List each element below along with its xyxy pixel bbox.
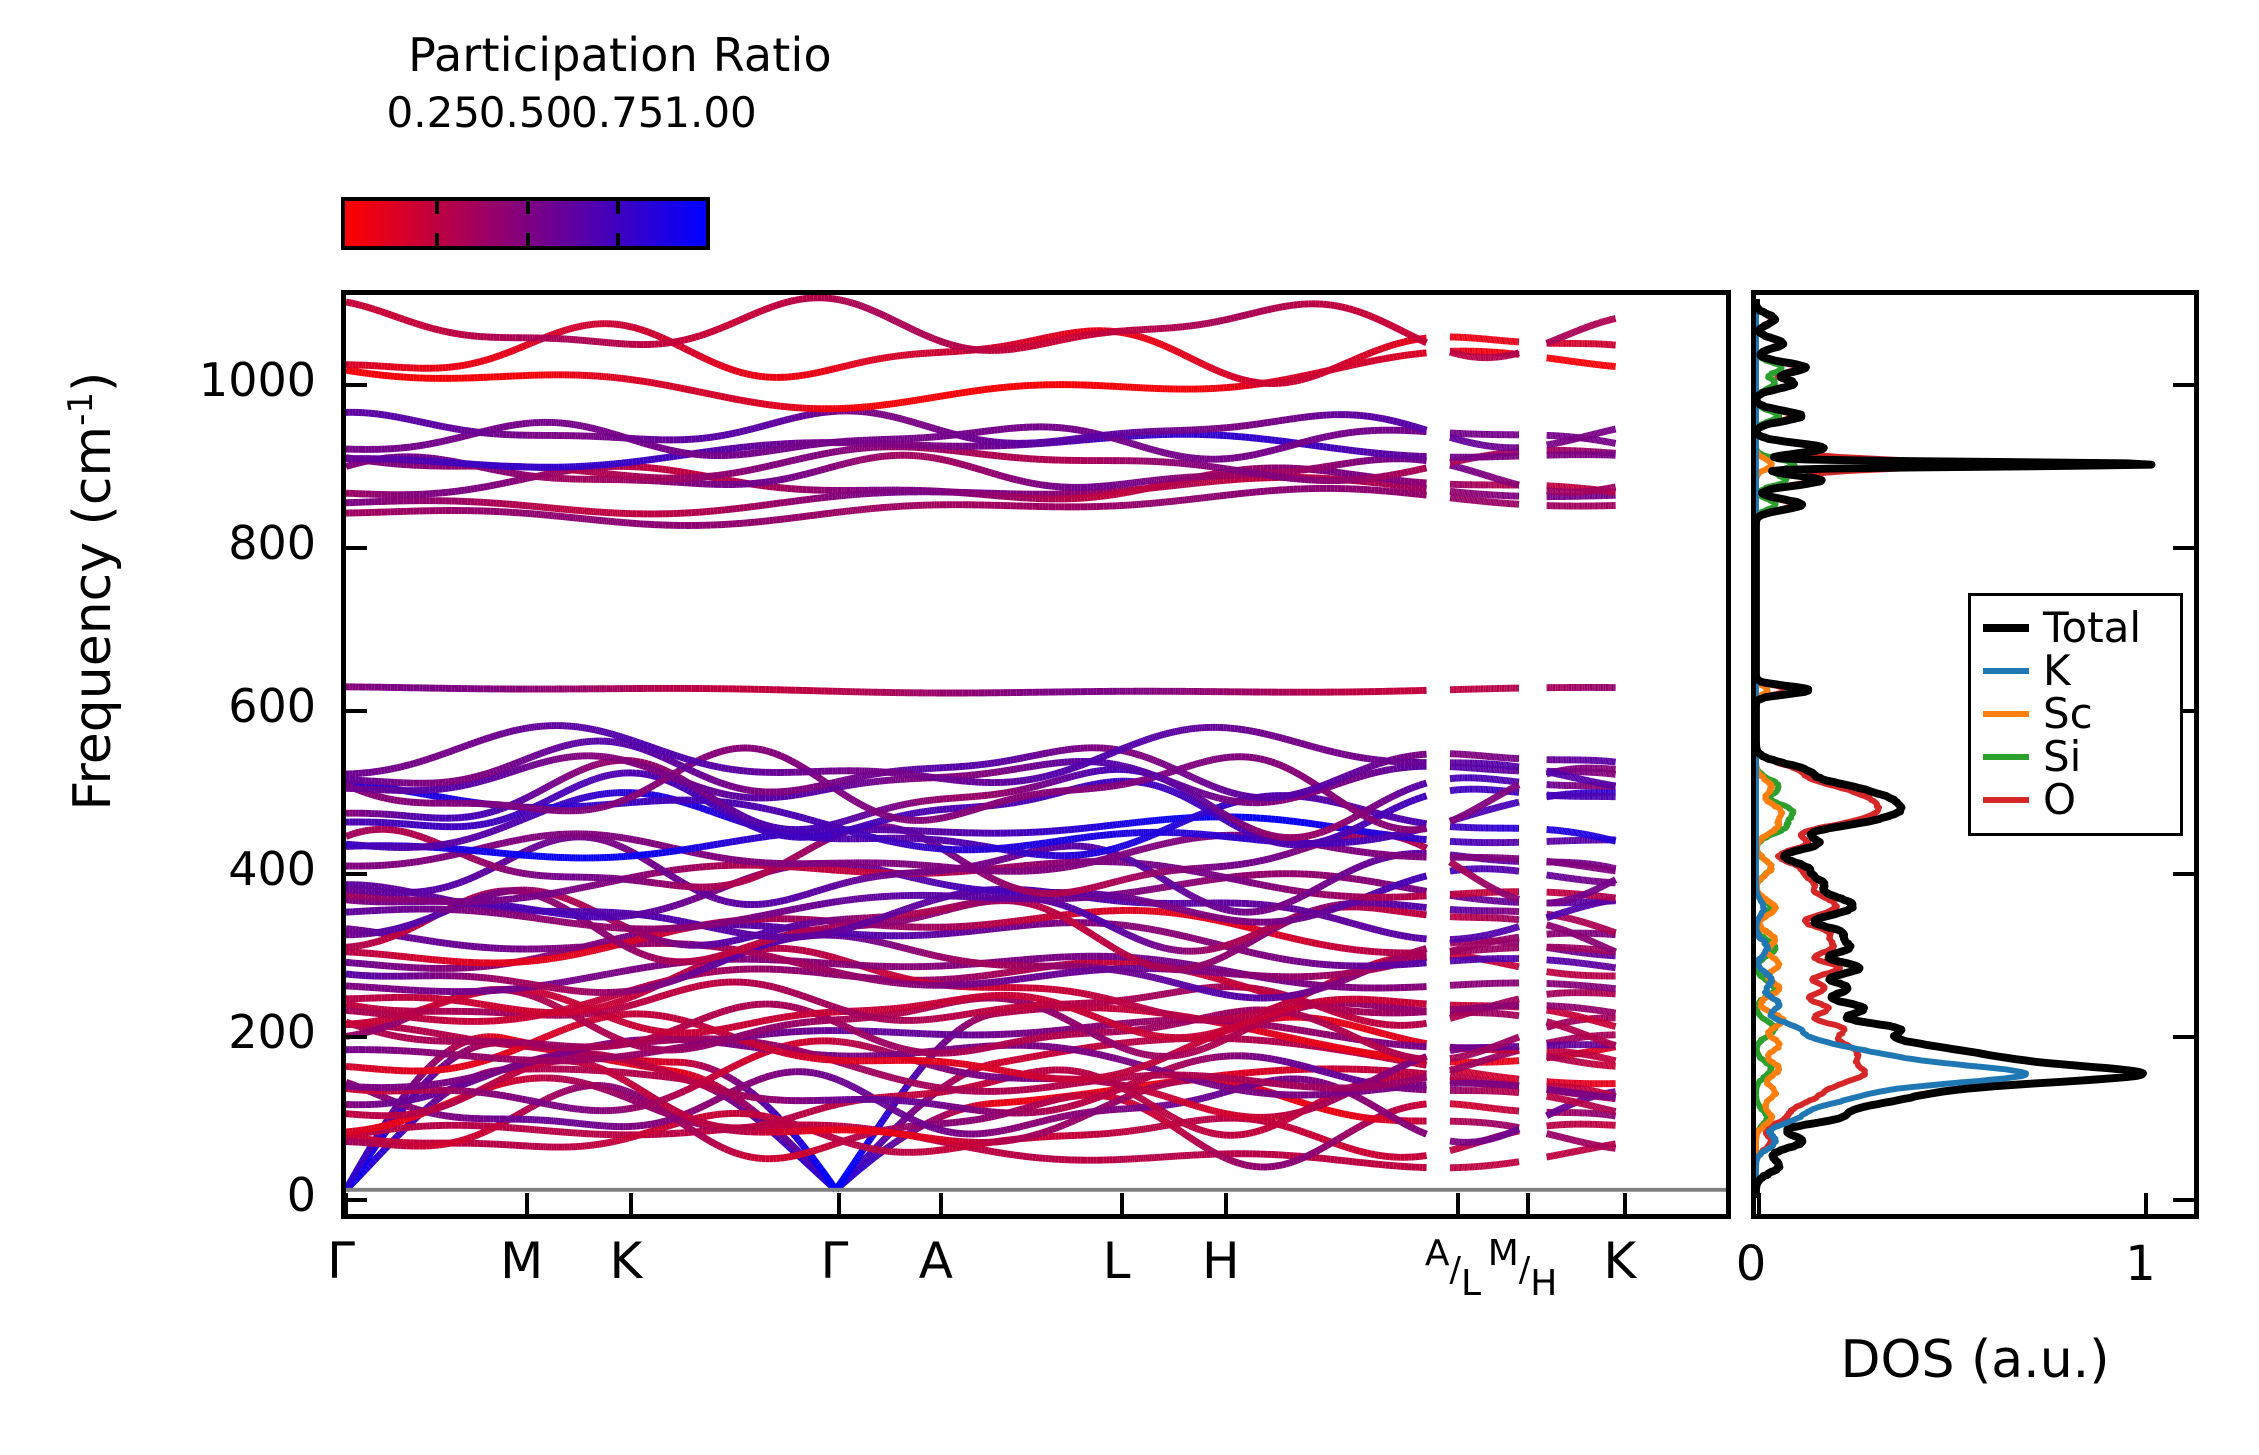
- legend-label-o: O: [2043, 779, 2076, 821]
- band-y-tick-mark: [345, 709, 367, 713]
- legend-item-si: Si: [1983, 735, 2166, 778]
- band-x-tick-L: L: [1103, 1236, 1131, 1286]
- legend-item-total: Total: [1983, 606, 2166, 649]
- band-x-tick-mark: [1224, 1193, 1228, 1215]
- dos-x-tick-labels: 01: [1751, 1236, 2199, 1306]
- dos-x-tick-0: 0: [1736, 1236, 1767, 1292]
- band-x-tick-H: H: [1202, 1236, 1240, 1286]
- band-x-tick-mark: [629, 1193, 633, 1215]
- legend-label-sc: Sc: [2043, 693, 2093, 735]
- figure-canvas: Participation Ratio 0.250.500.751.00 020…: [0, 0, 2259, 1455]
- band-y-tick-labels: 02004006008001000: [0, 290, 330, 1219]
- band-x-tick-A: A: [919, 1236, 953, 1286]
- colorbar-tick-labels: 0.250.500.751.00: [340, 88, 940, 136]
- band-x-tick-M-H: M/H: [1488, 1236, 1558, 1302]
- colorbar-tick-0-50: 0.50: [479, 88, 573, 137]
- legend-label-total: Total: [2043, 607, 2141, 649]
- dos-y-tick-mark: [2173, 872, 2195, 876]
- frac-numerator: M: [1488, 1233, 1519, 1274]
- band-x-tick-Γ: Γ: [821, 1236, 849, 1286]
- band-y-tick-mark: [345, 872, 367, 876]
- band-x-tick-mark: [344, 1193, 348, 1215]
- colorbar-minor-tick: [435, 201, 439, 214]
- legend-item-k: K: [1983, 649, 2166, 692]
- band-x-tick-mark: [939, 1193, 943, 1215]
- y-axis-title-exponent: -1: [61, 392, 101, 426]
- band-y-tick-mark: [345, 1035, 367, 1039]
- y-axis-title-close: ): [63, 372, 123, 392]
- legend-swatch-si: [1983, 754, 2029, 760]
- legend-label-si: Si: [2043, 736, 2081, 778]
- colorbar-tick-0-25: 0.25: [386, 88, 480, 137]
- band-y-tick-mark: [345, 1198, 367, 1202]
- colorbar-minor-tick: [616, 233, 620, 246]
- band-y-tick-0: 0: [287, 1168, 316, 1222]
- band-x-tick-K: K: [610, 1236, 643, 1286]
- legend-swatch-total: [1983, 624, 2029, 632]
- dos-y-tick-mark: [2173, 383, 2195, 387]
- dos-x-tick-mark: [2144, 1193, 2148, 1215]
- legend-swatch-sc: [1983, 711, 2029, 717]
- band-y-tick-200: 200: [228, 1005, 316, 1059]
- legend-item-sc: Sc: [1983, 692, 2166, 735]
- colorbar-minor-tick: [526, 201, 530, 214]
- band-x-tick-labels: ΓMKΓALHA/LM/HK: [341, 1236, 1731, 1326]
- band-x-tick-K: K: [1603, 1236, 1636, 1286]
- band-y-tick-1000: 1000: [199, 353, 316, 407]
- band-x-tick-mark: [1526, 1193, 1530, 1215]
- band-y-axis-title: Frequency (cm-1): [61, 241, 123, 941]
- colorbar-minor-tick: [616, 201, 620, 214]
- legend-item-o: O: [1983, 778, 2166, 821]
- phonon-band-structure-plot: [341, 290, 1731, 1219]
- participation-ratio-colorbar: [341, 197, 710, 250]
- frac-numerator: A: [1425, 1233, 1450, 1274]
- band-x-tick-A-L: A/L: [1425, 1236, 1481, 1302]
- frac-denominator: H: [1530, 1263, 1557, 1304]
- colorbar-tick-1-00: 1.00: [663, 88, 757, 137]
- band-y-tick-mark: [345, 546, 367, 550]
- colorbar-title: Participation Ratio: [300, 28, 940, 82]
- colorbar-minor-tick: [526, 233, 530, 246]
- legend-swatch-o: [1983, 797, 2029, 803]
- band-y-tick-600: 600: [228, 679, 316, 733]
- band-x-tick-mark: [1120, 1193, 1124, 1215]
- dos-x-axis-title: DOS (a.u.): [1751, 1330, 2199, 1390]
- colorbar-minor-tick: [435, 233, 439, 246]
- band-structure-svg: [346, 295, 1726, 1214]
- band-x-tick-Γ: Γ: [327, 1236, 355, 1286]
- dos-x-tick-mark: [1757, 1193, 1761, 1215]
- frac-denominator: L: [1461, 1263, 1481, 1304]
- band-x-tick-mark: [525, 1193, 529, 1215]
- band-curves: [346, 298, 1616, 1190]
- legend-swatch-k: [1983, 668, 2029, 674]
- dos-y-tick-mark: [2173, 1035, 2195, 1039]
- colorbar-tick-0-75: 0.75: [571, 88, 665, 137]
- band-x-tick-mark: [1623, 1193, 1627, 1215]
- dos-y-tick-mark: [2173, 546, 2195, 550]
- band-x-tick-mark: [1456, 1193, 1460, 1215]
- band-y-tick-800: 800: [228, 516, 316, 570]
- band-y-tick-400: 400: [228, 842, 316, 896]
- band-x-tick-M: M: [500, 1236, 543, 1286]
- y-axis-title-main: Frequency (cm: [63, 426, 123, 811]
- band-y-tick-mark: [345, 383, 367, 387]
- dos-y-tick-mark: [2173, 1198, 2195, 1202]
- dos-x-tick-1: 1: [2125, 1236, 2156, 1292]
- legend-label-k: K: [2043, 650, 2071, 692]
- dos-legend: TotalKScSiO: [1968, 593, 2183, 836]
- band-x-tick-mark: [837, 1193, 841, 1215]
